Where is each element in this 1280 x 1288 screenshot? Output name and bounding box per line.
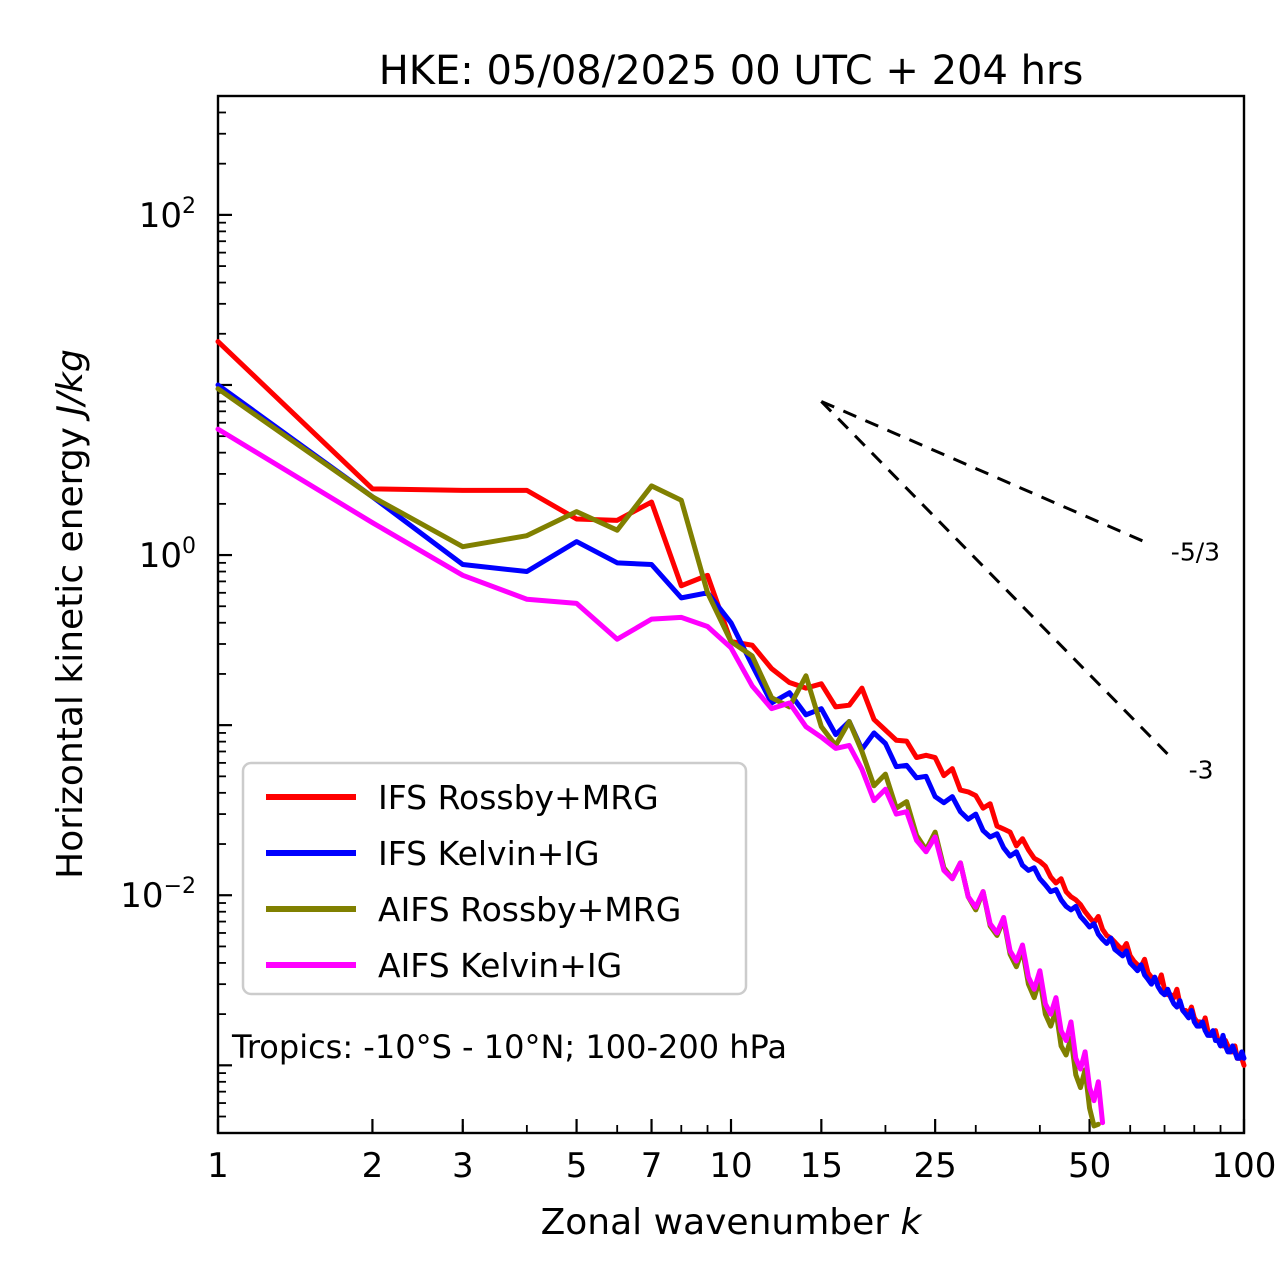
x-tick-label: 15 [800,1146,843,1186]
slope-label: -5/3 [1171,537,1220,566]
x-tick-label: 2 [362,1146,384,1186]
x-tick-label: 1 [207,1146,229,1186]
legend-label: IFS Rossby+MRG [378,778,659,817]
x-tick-label: 5 [566,1146,588,1186]
y-axis-label: Horizontal kinetic energy J/kg [50,349,91,879]
legend-label: AIFS Rossby+MRG [378,890,681,929]
x-tick-label: 7 [641,1146,663,1186]
page-title: HKE: 05/08/2025 00 UTC + 204 hrs [379,48,1084,94]
x-tick-label: 10 [709,1146,752,1186]
region-annotation: Tropics: -10°S - 10°N; 100-200 hPa [231,1028,787,1066]
x-axis-label: Zonal wavenumber k [541,1202,924,1243]
x-tick-label: 100 [1212,1146,1277,1186]
x-tick-label: 25 [914,1146,957,1186]
legend-label: IFS Kelvin+IG [378,834,600,873]
legend-label: AIFS Kelvin+IG [378,946,622,985]
slope-label: -3 [1189,755,1214,784]
spectrum-chart: HKE: 05/08/2025 00 UTC + 204 hrs 1235710… [0,0,1280,1288]
x-tick-label: 3 [452,1146,474,1186]
legend: IFS Rossby+MRGIFS Kelvin+IGAIFS Rossby+M… [243,763,746,994]
x-tick-label: 50 [1068,1146,1111,1186]
figure-container: HKE: 05/08/2025 00 UTC + 204 hrs 1235710… [0,0,1280,1288]
